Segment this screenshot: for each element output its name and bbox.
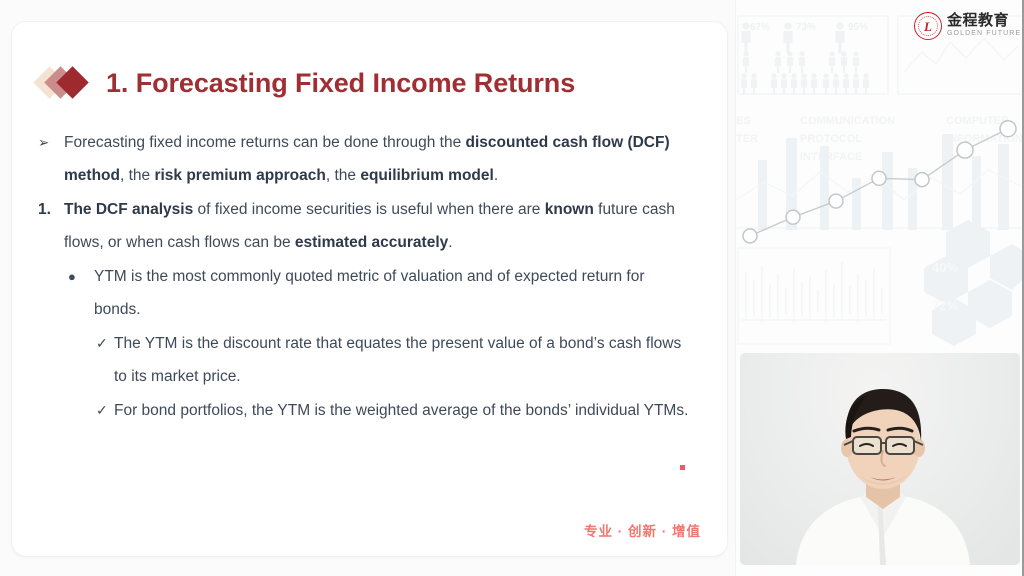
dot-bullet-icon: ● [68,260,94,326]
slide-title-row: 1. Forecasting Fixed Income Returns [38,60,575,106]
bullet-text: For bond portfolios, the YTM is the weig… [114,394,689,427]
bullet-item: ●YTM is the most commonly quoted metric … [68,260,707,326]
seal-letter: L [915,18,941,35]
presenter-figure [740,353,1020,565]
trend-point-marker [915,173,929,187]
svg-text:INTERFACE: INTERFACE [800,151,862,163]
bullet-item: ✓The YTM is the discount rate that equat… [96,327,707,393]
bullet-item: ✓For bond portfolios, the YTM is the wei… [96,394,707,427]
trend-point-marker [872,171,886,185]
trend-point-marker [829,194,843,208]
logo-name-en: GOLDEN FUTURE [947,29,1021,39]
svg-text:95%: 95% [848,22,868,33]
check-bullet-icon: ✓ [96,327,114,393]
bullet-text: Forecasting fixed income returns can be … [64,126,679,192]
trend-point-marker [786,210,800,224]
bullet-item: 1.The DCF analysis of fixed income secur… [38,193,707,259]
slide-body: ➢Forecasting fixed income returns can be… [38,126,707,428]
presentation-viewer: 1. Forecasting Fixed Income Returns ➢For… [0,0,1024,576]
seal-icon: L [914,12,942,40]
svg-text:ES: ES [736,115,751,127]
red-marker-dot [680,465,685,470]
svg-text:COMMUNICATION: COMMUNICATION [800,115,895,127]
logo-name-cn: 金程教育 [947,13,1021,29]
svg-text:TER: TER [736,133,758,145]
slide-area: 1. Forecasting Fixed Income Returns ➢For… [0,0,735,576]
svg-text:PROTOCOL: PROTOCOL [800,133,862,145]
slide-card: 1. Forecasting Fixed Income Returns ➢For… [12,22,727,556]
svg-text:73%: 73% [796,22,816,33]
bullet-text: The DCF analysis of fixed income securit… [64,193,679,259]
diamond-decoration-icon [38,66,98,100]
svg-text:72%: 72% [932,298,958,313]
arrow-bullet-icon: ➢ [38,126,64,192]
check-bullet-icon: ✓ [96,394,114,427]
trend-point-marker [1000,121,1016,137]
brand-logo: L 金程教育 GOLDEN FUTURE [914,10,1021,42]
brand-slogan: 专业 · 创新 · 增值 [584,520,701,540]
svg-text:40%: 40% [932,260,958,275]
trend-point-marker [743,229,757,243]
numbered-bullet-marker: 1. [38,193,64,259]
bullet-text: The YTM is the discount rate that equate… [114,327,689,393]
bullet-item: ➢Forecasting fixed income returns can be… [38,126,707,192]
bullet-text: YTM is the most commonly quoted metric o… [94,260,679,326]
right-panel: 67% 73% 95% ES TER COMMUNICATION PROTOCO… [735,0,1024,576]
logo-text-block: 金程教育 GOLDEN FUTURE [947,13,1021,39]
page-title: 1. Forecasting Fixed Income Returns [106,68,575,99]
svg-text:COMPUTER: COMPUTER [946,115,1009,127]
svg-text:67%: 67% [750,22,770,33]
trend-point-marker [957,142,973,158]
presenter-video[interactable] [740,353,1020,565]
